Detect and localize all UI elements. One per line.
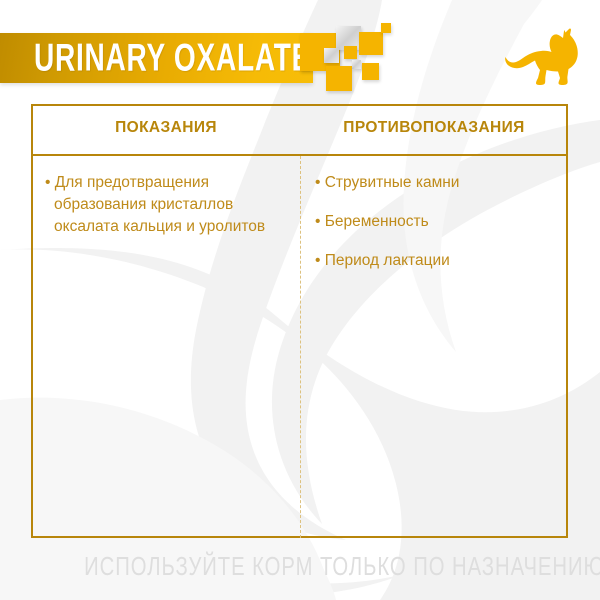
footer-disclaimer-text: ИСПОЛЬЗУЙТЕ КОРМ ТОЛЬКО ПО НАЗНАЧЕНИЮ ВР… xyxy=(84,551,600,582)
table-column-divider xyxy=(300,156,301,538)
list-item: • Беременность xyxy=(315,211,559,233)
infographic-page: URINARY OXALATE ПОКАЗАНИЯ ПРОТИВОПОКАЗАН… xyxy=(0,0,600,600)
list-item: • Струвитные камни xyxy=(315,172,559,194)
list-item: • Для предотвращения образования кристал… xyxy=(45,172,289,238)
contraindications-list: • Струвитные камни • Беременность • Пери… xyxy=(315,172,559,289)
page-title: URINARY OXALATE xyxy=(34,39,311,78)
footer-disclaimer: ИСПОЛЬЗУЙТЕ КОРМ ТОЛЬКО ПО НАЗНАЧЕНИЮ ВР… xyxy=(0,551,600,582)
decorative-squares-icon xyxy=(300,22,410,94)
column-header-indications: ПОКАЗАНИЯ xyxy=(33,119,299,137)
indications-list: • Для предотвращения образования кристал… xyxy=(45,172,289,244)
cat-silhouette-icon xyxy=(505,28,585,86)
column-header-contraindications: ПРОТИВОПОКАЗАНИЯ xyxy=(301,119,567,137)
list-item: • Период лактации xyxy=(315,250,559,272)
title-banner: URINARY OXALATE xyxy=(0,33,313,83)
